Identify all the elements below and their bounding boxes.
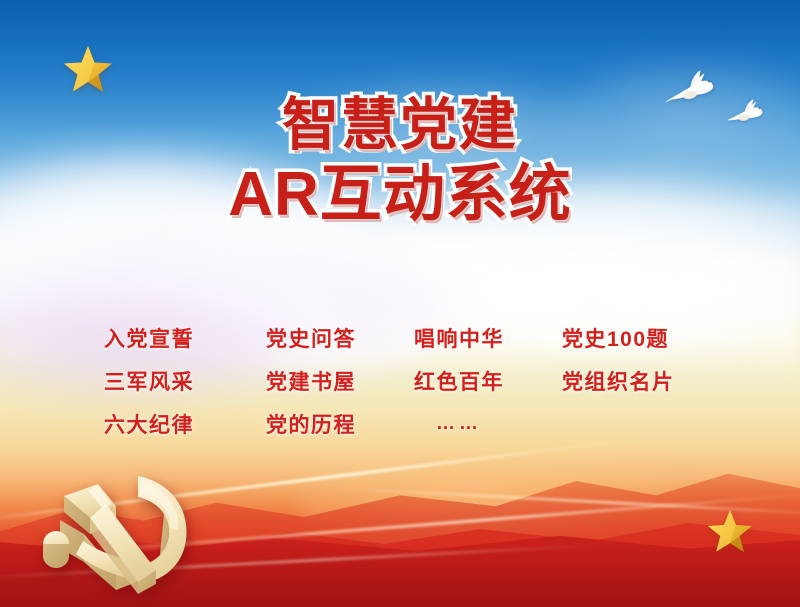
menu-item-5[interactable]: 三军风采 — [104, 366, 266, 396]
menu-item-4[interactable]: 党史100题 — [562, 323, 704, 353]
page-subtitle: AR互动系统 — [0, 163, 800, 227]
star-icon — [706, 508, 754, 554]
page-title: 智慧党建 — [0, 96, 800, 155]
menu-item-10[interactable]: 党的历程 — [266, 409, 414, 439]
hammer-and-sickle-icon — [20, 462, 230, 597]
menu-grid: 入党宣誓党史问答唱响中华党史100题三军风采党建书屋红色百年党组织名片六大纪律党… — [104, 316, 704, 445]
menu-item-7[interactable]: 红色百年 — [414, 366, 562, 396]
menu-ellipsis: …… — [414, 413, 562, 435]
menu-item-9[interactable]: 六大纪律 — [104, 409, 266, 439]
poster-canvas: 智慧党建 AR互动系统 入党宣誓党史问答唱响中华党史100题三军风采党建书屋红色… — [0, 0, 800, 607]
menu-item-3[interactable]: 唱响中华 — [414, 323, 562, 353]
menu-item-6[interactable]: 党建书屋 — [266, 366, 414, 396]
star-icon — [62, 44, 114, 94]
menu-item-2[interactable]: 党史问答 — [266, 323, 414, 353]
title-block: 智慧党建 AR互动系统 — [0, 96, 800, 228]
menu-item-1[interactable]: 入党宣誓 — [104, 323, 266, 353]
menu-item-8[interactable]: 党组织名片 — [562, 366, 704, 396]
